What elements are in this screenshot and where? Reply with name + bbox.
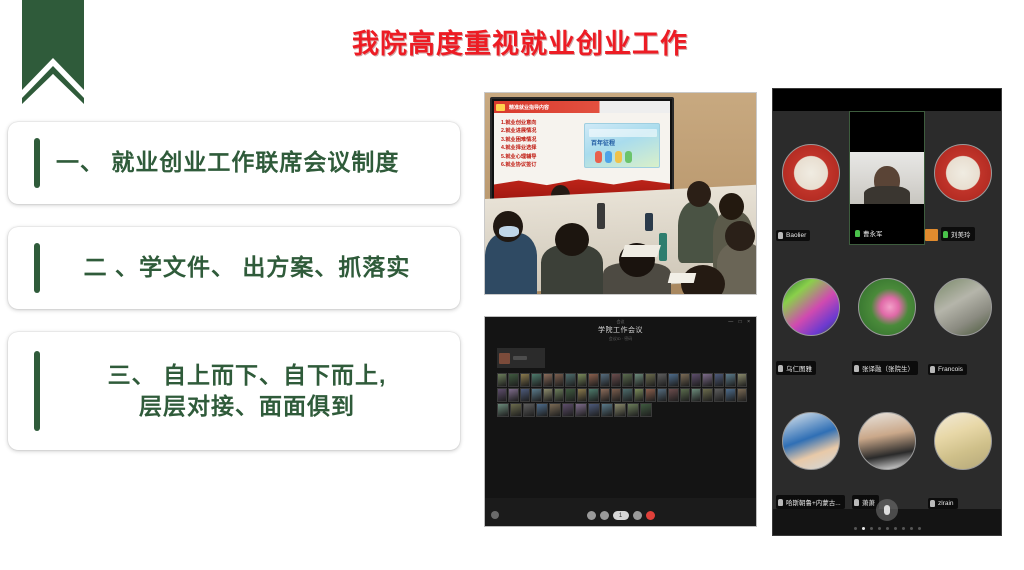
thumbnail-row [497, 373, 747, 387]
avatar [934, 412, 992, 470]
self-name-placeholder [513, 356, 527, 360]
card-2-text: 二 、学文件、 出方案、抓落实 [56, 252, 460, 283]
microphone-icon [930, 366, 935, 373]
avatar [858, 412, 916, 470]
participants-button[interactable]: 1 [613, 511, 629, 520]
attendee-head [719, 193, 744, 220]
card-3-line-2: 层层对接、面面俱到 [56, 391, 438, 422]
microphone-icon [943, 231, 948, 238]
participant-thumbnail[interactable] [531, 388, 541, 402]
card-3-text: 三、 自上而下、自下而上, 层层对接、面面俱到 [56, 360, 460, 422]
avatar [858, 278, 916, 336]
participant-name-label: 乌仁图雅 [776, 361, 816, 375]
participant-thumbnail[interactable] [680, 373, 690, 387]
participant-thumbnail[interactable] [554, 373, 564, 387]
participant-thumbnail[interactable] [510, 403, 522, 417]
video-call-grid: Baolier曹永军刘美玲乌仁图雅张译融（张院生）Francois哈斯朝鲁+内蒙… [773, 111, 1001, 513]
page-indicator[interactable] [773, 527, 1001, 530]
conference-grid-screenshot: 会议 — □ × 学院工作会议 会议ID · 密码 1 [484, 316, 757, 527]
participant-thumbnail[interactable] [668, 373, 678, 387]
participant-thumbnail[interactable] [702, 373, 712, 387]
participant-thumbnail[interactable] [577, 388, 587, 402]
microphone-icon [778, 232, 783, 239]
participant-thumbnail[interactable] [508, 388, 518, 402]
participant-thumbnail[interactable] [611, 373, 621, 387]
leave-button[interactable] [646, 511, 655, 520]
participant-name-text: zlrain [938, 500, 954, 507]
participant-thumbnail[interactable] [645, 388, 655, 402]
screen-item: 1.就业创业意向 [501, 119, 536, 127]
microphone-icon [854, 499, 859, 506]
participant-name-text: 张译融（张院生） [862, 363, 914, 373]
participant-thumbnail[interactable] [657, 388, 667, 402]
avatar [782, 278, 840, 336]
content-card-list: 一、 就业创业工作联席会议制度 二 、学文件、 出方案、抓落实 三、 自上而下、… [8, 122, 460, 450]
page-dot[interactable] [918, 527, 921, 530]
thumbnail-row [497, 403, 747, 417]
card-1-text: 一、 就业创业工作联席会议制度 [56, 147, 460, 178]
attendee-figure [485, 233, 537, 295]
participant-thumbnail[interactable] [508, 373, 518, 387]
participant-name-text: Baolier [786, 232, 806, 239]
participant-thumbnail[interactable] [588, 388, 598, 402]
microphone-icon [855, 230, 860, 237]
participant-thumbnail[interactable] [725, 388, 735, 402]
participant-thumbnail[interactable] [543, 388, 553, 402]
participant-thumbnail[interactable] [645, 373, 655, 387]
participant-name-label: 张译融（张院生） [852, 361, 918, 375]
participant-thumbnail[interactable] [588, 403, 600, 417]
screen-item: 3.就业困难情况 [501, 136, 536, 144]
conference-meeting-id: 会议ID · 密码 [485, 336, 756, 342]
water-bottle [645, 213, 653, 231]
participant-thumbnail[interactable] [627, 403, 639, 417]
video-call-bottombar [773, 509, 1001, 535]
video-tile[interactable]: zlrain [925, 379, 1001, 513]
card-accent-bar [34, 138, 40, 188]
participant-thumbnail[interactable] [565, 388, 575, 402]
participant-thumbnail[interactable] [737, 373, 747, 387]
participant-thumbnail[interactable] [523, 403, 535, 417]
screen-item: 4.就业择业选择 [501, 144, 536, 152]
participant-thumbnail[interactable] [680, 388, 690, 402]
face-mask [499, 226, 519, 237]
microphone-icon [778, 365, 783, 372]
paper-documents [668, 273, 696, 283]
participant-thumbnail[interactable] [497, 373, 507, 387]
conference-title: 学院工作会议 [485, 325, 756, 335]
participant-thumbnail[interactable] [562, 403, 574, 417]
screen-item: 5.就业心理辅导 [501, 153, 536, 161]
video-button[interactable] [600, 511, 609, 520]
participant-thumbnail[interactable] [497, 403, 509, 417]
participant-name-label: 刘美玲 [941, 227, 975, 241]
screen-poster-text: 百年征程 [591, 138, 615, 147]
screen-header-bar: 精准就业指导内容 [494, 101, 670, 113]
screen-header-text: 精准就业指导内容 [509, 104, 549, 111]
participant-thumbnail[interactable] [640, 403, 652, 417]
card-accent-bar [34, 243, 40, 293]
microphone-icon[interactable] [876, 499, 898, 521]
participant-thumbnail[interactable] [634, 388, 644, 402]
thumbnail-row [497, 388, 747, 402]
participant-thumbnail[interactable] [577, 373, 587, 387]
avatar [782, 144, 840, 202]
participant-thumbnail[interactable] [668, 388, 678, 402]
participant-thumbnail[interactable] [549, 403, 561, 417]
conference-controls: 1 [485, 511, 756, 520]
participant-name-label: Francois [928, 364, 967, 375]
participant-thumbnail[interactable] [600, 388, 610, 402]
page-dot[interactable] [902, 527, 905, 530]
participant-thumbnail[interactable] [531, 373, 541, 387]
card-3-line-1: 三、 自上而下、自下而上, [108, 362, 387, 388]
page-dot[interactable] [910, 527, 913, 530]
microphone-icon [854, 365, 859, 372]
participant-video-feed [850, 152, 924, 205]
participant-thumbnail[interactable] [737, 388, 747, 402]
participant-name-label: Baolier [776, 230, 810, 241]
participant-thumbnail[interactable] [657, 373, 667, 387]
mute-button[interactable] [587, 511, 596, 520]
video-tile[interactable]: 曹永军 [849, 111, 925, 245]
video-tile[interactable]: 刘美玲 [925, 111, 1001, 245]
participant-name-label: 萧萧 [852, 495, 879, 509]
page-dot[interactable] [870, 527, 873, 530]
avatar [782, 412, 840, 470]
page-dot[interactable] [862, 527, 865, 530]
attendee-head [725, 221, 755, 251]
microphone-icon [778, 499, 783, 506]
video-tile[interactable]: 乌仁图雅 [773, 245, 849, 379]
participant-thumbnail[interactable] [600, 373, 610, 387]
participant-thumbnail[interactable] [622, 388, 632, 402]
slide-root: 我院高度重视就业创业工作 一、 就业创业工作联席会议制度 二 、学文件、 出方案… [0, 0, 1024, 570]
participant-name-text: 哈斯朝鲁+内蒙古... [786, 497, 841, 507]
participant-thumbnail[interactable] [601, 403, 613, 417]
screen-item: 2.就业进展情况 [501, 127, 536, 135]
content-card-3[interactable]: 三、 自上而下、自下而上, 层层对接、面面俱到 [8, 332, 460, 450]
participant-thumbnail-grid [497, 373, 747, 418]
video-tile[interactable]: Baolier [773, 111, 849, 245]
participant-thumbnail[interactable] [714, 388, 724, 402]
participant-thumbnail[interactable] [497, 388, 507, 402]
attendee-head [687, 181, 711, 207]
participant-thumbnail[interactable] [691, 373, 701, 387]
participant-thumbnail[interactable] [520, 388, 530, 402]
content-card-1[interactable]: 一、 就业创业工作联席会议制度 [8, 122, 460, 204]
self-view-tile[interactable] [497, 348, 545, 368]
participant-thumbnail[interactable] [565, 373, 575, 387]
participant-thumbnail[interactable] [611, 388, 621, 402]
host-badge-icon [925, 229, 938, 241]
microphone-icon [930, 500, 935, 507]
participant-name-text: 萧萧 [862, 497, 875, 507]
water-bottle [597, 203, 605, 229]
participant-name-text: 曹永军 [863, 228, 883, 238]
attendee-head [555, 223, 589, 256]
video-tile[interactable]: 张译融（张院生） [849, 245, 925, 379]
page-dot[interactable] [894, 527, 897, 530]
content-card-2[interactable]: 二 、学文件、 出方案、抓落实 [8, 227, 460, 309]
page-dot[interactable] [878, 527, 881, 530]
participant-thumbnail[interactable] [543, 373, 553, 387]
card-accent-bar [34, 351, 40, 431]
paper-documents [621, 245, 661, 257]
screen-item: 6.就业协议签订 [501, 161, 536, 169]
screen-poster-image: 百年征程 [584, 123, 660, 168]
participant-thumbnail[interactable] [725, 373, 735, 387]
avatar [934, 144, 992, 202]
meeting-room-photo: 精准就业指导内容 1.就业创业意向 2.就业进展情况 3.就业困难情况 4.就业… [484, 92, 757, 295]
participant-name-label: zlrain [928, 498, 958, 509]
video-call-topbar [773, 89, 1001, 111]
participant-name-label: 曹永军 [853, 226, 887, 240]
participant-thumbnail[interactable] [622, 373, 632, 387]
participant-thumbnail[interactable] [634, 373, 644, 387]
participant-thumbnail[interactable] [520, 373, 530, 387]
participant-thumbnail[interactable] [575, 403, 587, 417]
page-dot[interactable] [854, 527, 857, 530]
participant-thumbnail[interactable] [614, 403, 626, 417]
participant-name-text: 刘美玲 [951, 229, 971, 239]
page-dot[interactable] [886, 527, 889, 530]
screen-item-list: 1.就业创业意向 2.就业进展情况 3.就业困难情况 4.就业择业选择 5.就业… [501, 119, 536, 170]
video-tile[interactable]: 萧萧 [849, 379, 925, 513]
participant-name-text: Francois [938, 366, 963, 373]
participant-thumbnail[interactable] [588, 373, 598, 387]
participant-thumbnail[interactable] [536, 403, 548, 417]
page-title: 我院高度重视就业创业工作 [150, 22, 890, 61]
ribbon-decoration-icon [22, 0, 84, 108]
participant-thumbnail[interactable] [691, 388, 701, 402]
party-emblem-icon [496, 104, 505, 111]
share-button[interactable] [633, 511, 642, 520]
video-call-panel: Baolier曹永军刘美玲乌仁图雅张译融（张院生）Francois哈斯朝鲁+内蒙… [772, 88, 1002, 536]
video-tile[interactable]: Francois [925, 245, 1001, 379]
participant-thumbnail[interactable] [714, 373, 724, 387]
participant-body [864, 186, 910, 204]
participant-thumbnail[interactable] [702, 388, 712, 402]
self-avatar [499, 353, 510, 364]
participant-thumbnail[interactable] [554, 388, 564, 402]
avatar [934, 278, 992, 336]
participant-name-text: 乌仁图雅 [786, 363, 812, 373]
participant-name-label: 哈斯朝鲁+内蒙古... [776, 495, 845, 509]
video-tile[interactable]: 哈斯朝鲁+内蒙古... [773, 379, 849, 513]
